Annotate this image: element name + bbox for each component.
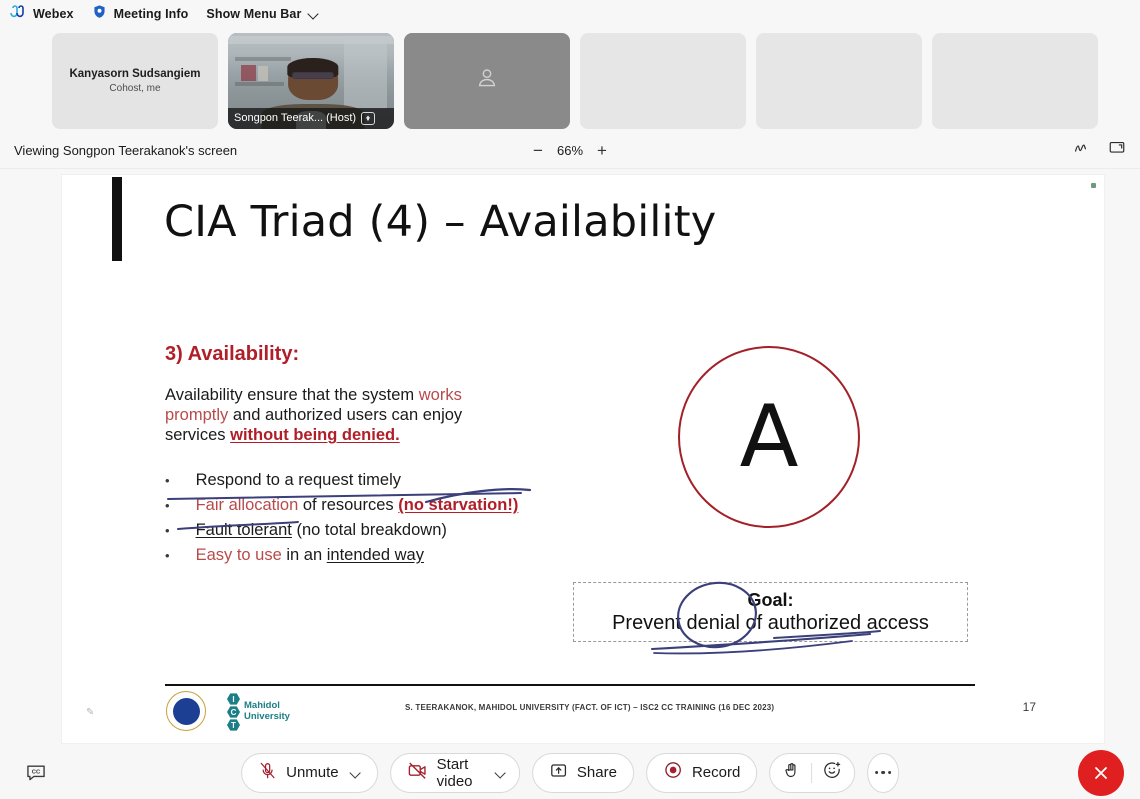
participant-tile-songpon[interactable]: Songpon Teerak... (Host) [228, 33, 394, 129]
meeting-info-label: Meeting Info [114, 7, 189, 21]
viewing-status-label: Viewing Songpon Teerakanok's screen [14, 143, 237, 158]
availability-paragraph: Availability ensure that the system work… [165, 385, 495, 445]
shared-screen-stage: CIA Triad (4) – Availability 3) Availabi… [0, 169, 1140, 746]
list-item: • Fault tolerant (no total breakdown) [165, 518, 585, 543]
circle-letter: A [680, 348, 858, 526]
share-status-bar: Viewing Songpon Teerakanok's screen − 66… [0, 133, 1140, 169]
bullet-text: (no total breakdown) [292, 521, 447, 539]
app-logo-group[interactable]: Webex [10, 4, 74, 25]
ict-hex-letters: I C T [227, 693, 240, 731]
hex-letter-t: T [227, 719, 240, 731]
zoom-in-button[interactable]: + [597, 142, 607, 159]
bullet-text-underline: Fault tolerant [196, 521, 292, 539]
participant-caption: Songpon Teerak... (Host) [228, 108, 394, 129]
bullet-text-red: Fair allocation [196, 496, 299, 514]
shield-info-icon [92, 4, 107, 24]
unmute-button[interactable]: Unmute [241, 753, 378, 793]
participant-name: Songpon Teerak... (Host) [234, 112, 356, 124]
slide-title: CIA Triad (4) – Availability [164, 197, 716, 247]
bullet-text: of resources [298, 496, 398, 514]
toolbar-center-controls: Unmute Start video [241, 753, 899, 793]
paragraph-highlight-2: without being denied. [230, 426, 400, 444]
display-screen-icon[interactable] [1108, 139, 1126, 162]
start-video-label: Start video [437, 756, 485, 790]
annotation-ink-layer [62, 175, 1104, 743]
ict-name-line-2: University [244, 712, 290, 723]
share-label: Share [577, 764, 617, 781]
participant-name: Kanyasorn Sudsangiem [69, 68, 200, 80]
top-menu-bar: Webex Meeting Info Show Menu Bar [0, 0, 1140, 28]
bullet-dot-icon: • [165, 546, 170, 566]
goal-text: Prevent denial of authorized access [612, 612, 929, 635]
participant-role: Cohost, me [109, 83, 160, 94]
goal-box: Goal: Prevent denial of authorized acces… [573, 582, 968, 642]
more-options-button[interactable] [867, 753, 899, 793]
start-video-button[interactable]: Start video [390, 753, 520, 793]
webex-meeting-window: Webex Meeting Info Show Menu Bar Kanyaso… [0, 0, 1140, 799]
list-item: • Respond to a request timely [165, 468, 585, 493]
annotate-icon[interactable] [1073, 140, 1090, 162]
bullet-dot-icon: • [165, 471, 170, 491]
paragraph-part-1: Availability ensure that the system [165, 386, 419, 404]
bullet-dot-icon: • [165, 521, 170, 541]
svg-text:CC: CC [32, 769, 41, 775]
zoom-controls: − 66% + [533, 142, 607, 159]
share-indicator-dot [1091, 183, 1096, 188]
availability-bullet-list: • Respond to a request timely • Fair all… [165, 468, 585, 568]
goal-title: Goal: [747, 590, 793, 611]
raise-hand-icon[interactable] [782, 761, 801, 785]
participant-tile-kanyasorn[interactable]: Kanyasorn Sudsangiem Cohost, me [52, 33, 218, 129]
shared-slide: CIA Triad (4) – Availability 3) Availabi… [62, 175, 1104, 743]
share-bar-actions [1073, 139, 1126, 162]
slide-footnote: S. TEERAKANOK, MAHIDOL UNIVERSITY (FACT.… [405, 703, 774, 712]
meeting-toolbar: CC Unmute [0, 746, 1140, 799]
pencil-cursor-icon: ✎ [86, 707, 94, 718]
participant-tile-avatar[interactable] [404, 33, 570, 129]
bullet-text-emphasis: (no starvation!) [398, 496, 518, 514]
bullet-text-red: Easy to use [196, 546, 282, 564]
meeting-info-button[interactable]: Meeting Info [92, 4, 189, 24]
close-icon [1091, 763, 1111, 783]
record-icon [663, 760, 683, 785]
show-menu-bar-button[interactable]: Show Menu Bar [206, 7, 319, 21]
webex-logo-icon [10, 4, 26, 25]
participant-tile-empty-3[interactable] [932, 33, 1098, 129]
camera-off-icon [407, 760, 428, 786]
participant-tile-empty-2[interactable] [756, 33, 922, 129]
hex-letter-i: I [227, 693, 240, 705]
unmute-label: Unmute [286, 764, 339, 781]
reactions-smiley-icon[interactable] [822, 760, 842, 785]
pin-icon[interactable] [361, 112, 375, 125]
participant-tile-empty-1[interactable] [580, 33, 746, 129]
person-avatar-icon [474, 65, 500, 96]
ict-logo-name: Mahidol University [244, 701, 290, 722]
zoom-level-label: 66% [557, 143, 583, 158]
chevron-down-icon[interactable] [496, 767, 503, 778]
participant-strip: Kanyasorn Sudsangiem Cohost, me Songpon … [0, 28, 1140, 133]
footer-rule [165, 684, 975, 686]
show-menu-bar-label: Show Menu Bar [206, 7, 301, 21]
more-dots-icon [875, 771, 892, 775]
zoom-out-button[interactable]: − [533, 142, 543, 159]
ict-logo: I C T Mahidol University [227, 693, 290, 731]
toolbar-divider [811, 763, 812, 783]
bullet-dot-icon: • [165, 496, 170, 516]
list-item: • Easy to use in an intended way [165, 543, 585, 568]
slide-page-number: 17 [1023, 700, 1036, 714]
end-meeting-button[interactable] [1078, 750, 1124, 796]
section-heading: 3) Availability: [165, 343, 299, 366]
closed-captions-icon: CC [25, 762, 47, 784]
bullet-text-underline: intended way [327, 546, 424, 564]
closed-captions-button[interactable]: CC [16, 753, 56, 793]
record-label: Record [692, 764, 740, 781]
chevron-down-icon[interactable] [350, 767, 361, 778]
hex-letter-c: C [227, 706, 240, 718]
reactions-group [769, 753, 855, 793]
record-button[interactable]: Record [646, 753, 757, 793]
chevron-down-icon [308, 9, 319, 20]
mahidol-seal-logo [166, 691, 206, 731]
share-button[interactable]: Share [532, 753, 634, 793]
bullet-text: Respond to a request timely [196, 471, 401, 489]
app-name-label: Webex [33, 7, 74, 21]
list-item: • Fair allocation of resources (no starv… [165, 493, 585, 518]
share-screen-icon [549, 761, 568, 785]
title-accent-bar [112, 177, 122, 261]
bullet-text: in an [282, 546, 327, 564]
microphone-muted-icon [258, 761, 277, 785]
availability-letter-circle: A [678, 346, 860, 528]
